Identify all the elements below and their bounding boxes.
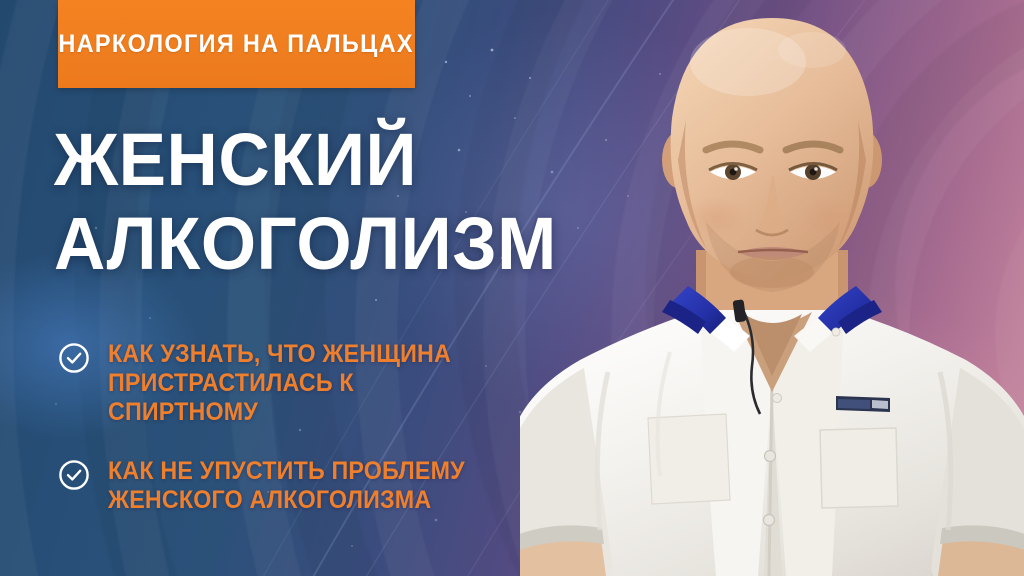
headline-line-2: АЛКОГОЛИЗМ [54, 202, 505, 286]
headline-line-1: ЖЕНСКИЙ [54, 118, 505, 202]
check-circle-icon [58, 342, 90, 374]
thumbnail-canvas: НАРКОЛОГИЯ НА ПАЛЬЦАХ ЖЕНСКИЙ АЛКОГОЛИЗМ… [0, 0, 1024, 576]
bullet-list: КАК УЗНАТЬ, ЧТО ЖЕНЩИНА ПРИСТРАСТИЛАСЬ К… [58, 340, 528, 515]
check-circle-icon [58, 459, 90, 491]
presenter-photo [520, 0, 1024, 576]
bullet-text: КАК УЗНАТЬ, ЧТО ЖЕНЩИНА ПРИСТРАСТИЛАСЬ К… [108, 340, 499, 427]
bullet-1-line-1: КАК УЗНАТЬ, ЧТО ЖЕНЩИНА [108, 340, 451, 368]
bullet-2-line-2: ЖЕНСКОГО АЛКОГОЛИЗМА [108, 486, 431, 514]
category-badge: НАРКОЛОГИЯ НА ПАЛЬЦАХ [58, 0, 415, 88]
bullet-1-line-2: ПРИСТРАСТИЛАСЬ К СПИРТНОМУ [108, 369, 354, 426]
bullet-2-line-1: КАК НЕ УПУСТИТЬ ПРОБЛЕМУ [108, 457, 465, 485]
list-item: КАК УЗНАТЬ, ЧТО ЖЕНЩИНА ПРИСТРАСТИЛАСЬ К… [58, 340, 528, 427]
bullet-text: КАК НЕ УПУСТИТЬ ПРОБЛЕМУ ЖЕНСКОГО АЛКОГО… [108, 457, 465, 515]
category-badge-label: НАРКОЛОГИЯ НА ПАЛЬЦАХ [59, 30, 415, 59]
list-item: КАК НЕ УПУСТИТЬ ПРОБЛЕМУ ЖЕНСКОГО АЛКОГО… [58, 457, 528, 515]
page-title: ЖЕНСКИЙ АЛКОГОЛИЗМ [54, 118, 524, 286]
